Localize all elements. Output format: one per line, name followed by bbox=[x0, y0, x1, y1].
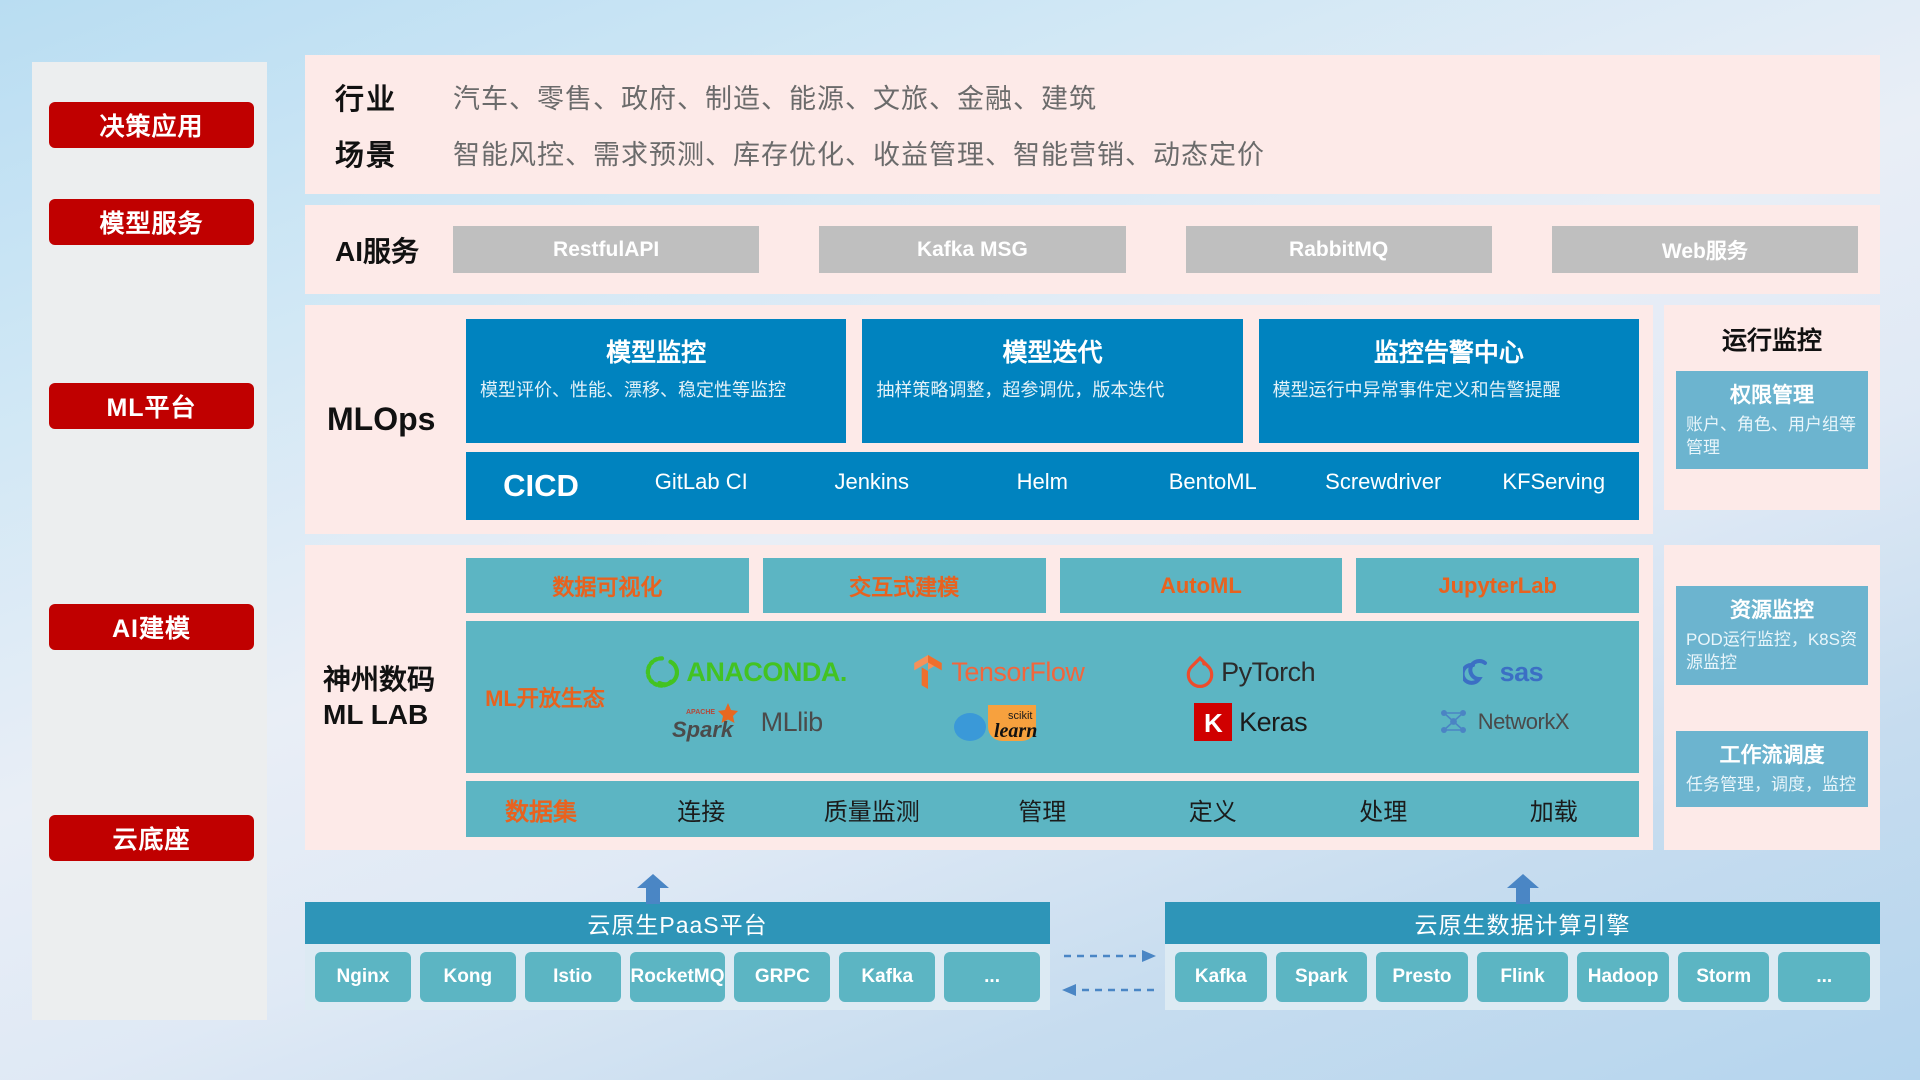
svg-text:APACHE: APACHE bbox=[686, 709, 715, 716]
card-title: 资源监控 bbox=[1686, 594, 1858, 624]
dataset-bar: 数据集 连接 质量监测 管理 定义 处理 加载 bbox=[466, 781, 1639, 837]
service-kafka-msg[interactable]: Kafka MSG bbox=[819, 226, 1125, 273]
ml-ecosystem-label: ML开放生态 bbox=[470, 681, 620, 713]
up-arrow-icon-paas bbox=[635, 874, 671, 904]
card-desc: 任务管理，调度，监控 bbox=[1686, 774, 1858, 797]
keras-mark-icon: K bbox=[1194, 703, 1232, 741]
cicd-item-gitlab-ci[interactable]: GitLab CI bbox=[616, 469, 787, 494]
lab-tool-automl[interactable]: AutoML bbox=[1060, 558, 1343, 613]
mlops-label: MLOps bbox=[327, 305, 457, 534]
svg-text:Spark: Spark bbox=[672, 717, 735, 742]
sas-logo: sas bbox=[1463, 657, 1544, 688]
runtime-monitor-panel-lower: 资源监控 POD运行监控，K8S资源监控 工作流调度 任务管理，调度，监控 bbox=[1664, 545, 1880, 850]
dataset-item-load[interactable]: 加载 bbox=[1469, 792, 1640, 827]
dataset-item-define[interactable]: 定义 bbox=[1128, 792, 1299, 827]
compute-chip-presto[interactable]: Presto bbox=[1376, 952, 1468, 1002]
rail-item-ai-modeling[interactable]: AI建模 bbox=[49, 604, 254, 650]
mlops-row: MLOps 模型监控 模型评价、性能、漂移、稳定性等监控 模型迭代 抽样策略调整… bbox=[305, 305, 1880, 534]
up-arrow-icon-compute bbox=[1505, 874, 1541, 904]
scenario-key: 场景 bbox=[335, 132, 453, 174]
rail-item-model-service[interactable]: 模型服务 bbox=[49, 199, 254, 245]
ai-service-label: AI服务 bbox=[335, 230, 453, 270]
monitor-panel-title: 运行监控 bbox=[1676, 321, 1868, 357]
mlops-card-model-monitoring[interactable]: 模型监控 模型评价、性能、漂移、稳定性等监控 bbox=[466, 319, 846, 443]
monitor-card-workflow[interactable]: 工作流调度 任务管理，调度，监控 bbox=[1676, 731, 1868, 807]
paas-chip-grpc[interactable]: GRPC bbox=[734, 952, 830, 1002]
keras-logo: K Keras bbox=[1194, 703, 1307, 741]
card-title: 模型迭代 bbox=[876, 333, 1228, 369]
tensorflow-logo: TensorFlow bbox=[912, 654, 1084, 690]
compute-chip-kafka[interactable]: Kafka bbox=[1175, 952, 1267, 1002]
sas-wordmark: sas bbox=[1500, 657, 1544, 688]
cloud-base-section: 云原生PaaS平台 Nginx Kong Istio RocketMQ GRPC… bbox=[305, 880, 1880, 1040]
compute-chip-flink[interactable]: Flink bbox=[1477, 952, 1569, 1002]
card-title: 权限管理 bbox=[1686, 379, 1858, 409]
cloud-paas-group: 云原生PaaS平台 Nginx Kong Istio RocketMQ GRPC… bbox=[305, 902, 1050, 1010]
networkx-logo: NetworkX bbox=[1437, 705, 1569, 739]
compute-chip-hadoop[interactable]: Hadoop bbox=[1577, 952, 1669, 1002]
lab-tool-jupyterlab[interactable]: JupyterLab bbox=[1356, 558, 1639, 613]
cloud-compute-group: 云原生数据计算引擎 Kafka Spark Presto Flink Hadoo… bbox=[1165, 902, 1880, 1010]
svg-text:K: K bbox=[1204, 708, 1223, 738]
bidirectional-connector bbox=[1060, 942, 1158, 1002]
service-rabbitmq[interactable]: RabbitMQ bbox=[1186, 226, 1492, 273]
ml-lab-label-line1: 神州数码 bbox=[323, 663, 435, 698]
mlops-card-alert-center[interactable]: 监控告警中心 模型运行中异常事件定义和告警提醒 bbox=[1259, 319, 1639, 443]
card-desc: POD运行监控，K8S资源监控 bbox=[1686, 629, 1858, 674]
monitor-card-resource[interactable]: 资源监控 POD运行监控，K8S资源监控 bbox=[1676, 586, 1868, 684]
ml-lab-label-line2: ML LAB bbox=[323, 698, 428, 733]
monitor-card-permission[interactable]: 权限管理 账户、角色、用户组等管理 bbox=[1676, 371, 1868, 469]
compute-chip-more[interactable]: ... bbox=[1778, 952, 1870, 1002]
pytorch-logo: PyTorch bbox=[1186, 655, 1315, 689]
ml-lab-label: 神州数码 ML LAB bbox=[323, 545, 463, 850]
layer-rail: 决策应用 模型服务 ML平台 AI建模 云底座 bbox=[32, 62, 267, 1020]
dataset-label: 数据集 bbox=[466, 792, 616, 827]
dataset-item-manage[interactable]: 管理 bbox=[957, 792, 1128, 827]
industry-key: 行业 bbox=[335, 76, 453, 118]
compute-chip-storm[interactable]: Storm bbox=[1678, 952, 1770, 1002]
networkx-graph-icon bbox=[1437, 705, 1471, 739]
architecture-main: 行业 汽车、零售、政府、制造、能源、文旅、金融、建筑 场景 智能风控、需求预测、… bbox=[305, 55, 1880, 850]
mlops-card-model-iteration[interactable]: 模型迭代 抽样策略调整，超参调优，版本迭代 bbox=[862, 319, 1242, 443]
dataset-item-connect[interactable]: 连接 bbox=[616, 792, 787, 827]
dataset-item-process[interactable]: 处理 bbox=[1298, 792, 1469, 827]
card-desc: 模型运行中异常事件定义和告警提醒 bbox=[1273, 378, 1625, 403]
service-web[interactable]: Web服务 bbox=[1552, 226, 1858, 273]
ml-lab-row: 神州数码 ML LAB 数据可视化 交互式建模 AutoML JupyterLa… bbox=[305, 545, 1880, 850]
cicd-bar: CICD GitLab CI Jenkins Helm BentoML Scre… bbox=[466, 452, 1639, 520]
cicd-item-jenkins[interactable]: Jenkins bbox=[787, 469, 958, 494]
cicd-item-helm[interactable]: Helm bbox=[957, 469, 1128, 494]
anaconda-ring-icon bbox=[645, 655, 679, 689]
ml-ecosystem-strip: ML开放生态 ANACONDA. bbox=[466, 621, 1639, 773]
spark-mllib-logo: APACHE Spark MLlib bbox=[670, 701, 823, 743]
card-desc: 账户、角色、用户组等管理 bbox=[1686, 414, 1858, 459]
card-title: 监控告警中心 bbox=[1273, 333, 1625, 369]
paas-chip-nginx[interactable]: Nginx bbox=[315, 952, 411, 1002]
cicd-item-bentoml[interactable]: BentoML bbox=[1128, 469, 1299, 494]
decision-app-band: 行业 汽车、零售、政府、制造、能源、文旅、金融、建筑 场景 智能风控、需求预测、… bbox=[305, 55, 1880, 194]
cloud-compute-title: 云原生数据计算引擎 bbox=[1165, 902, 1880, 944]
lab-tool-interactive-modeling[interactable]: 交互式建模 bbox=[763, 558, 1046, 613]
card-title: 模型监控 bbox=[480, 333, 832, 369]
anaconda-logo: ANACONDA. bbox=[645, 655, 847, 689]
sas-swirl-icon bbox=[1463, 657, 1493, 687]
industry-value: 汽车、零售、政府、制造、能源、文旅、金融、建筑 bbox=[453, 77, 1097, 116]
industry-row: 行业 汽车、零售、政府、制造、能源、文旅、金融、建筑 bbox=[335, 69, 1880, 125]
paas-chip-kong[interactable]: Kong bbox=[420, 952, 516, 1002]
rail-item-ml-platform[interactable]: ML平台 bbox=[49, 383, 254, 429]
dataset-item-quality[interactable]: 质量监测 bbox=[787, 792, 958, 827]
tensorflow-wordmark: TensorFlow bbox=[951, 657, 1084, 688]
keras-wordmark: Keras bbox=[1239, 707, 1307, 738]
pytorch-flame-icon bbox=[1186, 655, 1214, 689]
card-desc: 抽样策略调整，超参调优，版本迭代 bbox=[876, 378, 1228, 403]
paas-chip-rocketmq[interactable]: RocketMQ bbox=[630, 952, 726, 1002]
pytorch-wordmark: PyTorch bbox=[1221, 657, 1315, 688]
ml-lab-band: 神州数码 ML LAB 数据可视化 交互式建模 AutoML JupyterLa… bbox=[305, 545, 1653, 850]
cloud-paas-title: 云原生PaaS平台 bbox=[305, 902, 1050, 944]
scikit-learn-logo: scikit learn bbox=[950, 697, 1046, 747]
runtime-monitor-panel: 运行监控 权限管理 账户、角色、用户组等管理 bbox=[1664, 305, 1880, 510]
card-desc: 模型评价、性能、漂移、稳定性等监控 bbox=[480, 378, 832, 403]
cicd-item-kfserving[interactable]: KFServing bbox=[1469, 469, 1640, 494]
scikit-learn-icon: scikit learn bbox=[950, 697, 1046, 747]
compute-chip-spark[interactable]: Spark bbox=[1276, 952, 1368, 1002]
paas-chip-istio[interactable]: Istio bbox=[525, 952, 621, 1002]
ai-service-band: AI服务 RestfulAPI Kafka MSG RabbitMQ Web服务 bbox=[305, 205, 1880, 294]
scenario-value: 智能风控、需求预测、库存优化、收益管理、智能营销、动态定价 bbox=[453, 133, 1265, 172]
anaconda-wordmark: ANACONDA. bbox=[686, 657, 847, 688]
paas-chip-more[interactable]: ... bbox=[944, 952, 1040, 1002]
networkx-wordmark: NetworkX bbox=[1478, 709, 1569, 735]
tensorflow-mark-icon bbox=[912, 654, 944, 690]
rail-item-decision-app[interactable]: 决策应用 bbox=[49, 102, 254, 148]
rail-item-cloud-base[interactable]: 云底座 bbox=[49, 815, 254, 861]
card-title: 工作流调度 bbox=[1686, 739, 1858, 769]
mllib-wordmark: MLlib bbox=[761, 707, 823, 738]
cicd-item-screwdriver[interactable]: Screwdriver bbox=[1298, 469, 1469, 494]
svg-text:learn: learn bbox=[994, 720, 1037, 742]
service-restfulapi[interactable]: RestfulAPI bbox=[453, 226, 759, 273]
mlops-band: MLOps 模型监控 模型评价、性能、漂移、稳定性等监控 模型迭代 抽样策略调整… bbox=[305, 305, 1653, 534]
cicd-label: CICD bbox=[466, 468, 616, 504]
lab-tool-data-visualization[interactable]: 数据可视化 bbox=[466, 558, 749, 613]
scenario-row: 场景 智能风控、需求预测、库存优化、收益管理、智能营销、动态定价 bbox=[335, 125, 1880, 181]
paas-chip-kafka[interactable]: Kafka bbox=[839, 952, 935, 1002]
apache-spark-icon: APACHE Spark bbox=[670, 701, 754, 743]
